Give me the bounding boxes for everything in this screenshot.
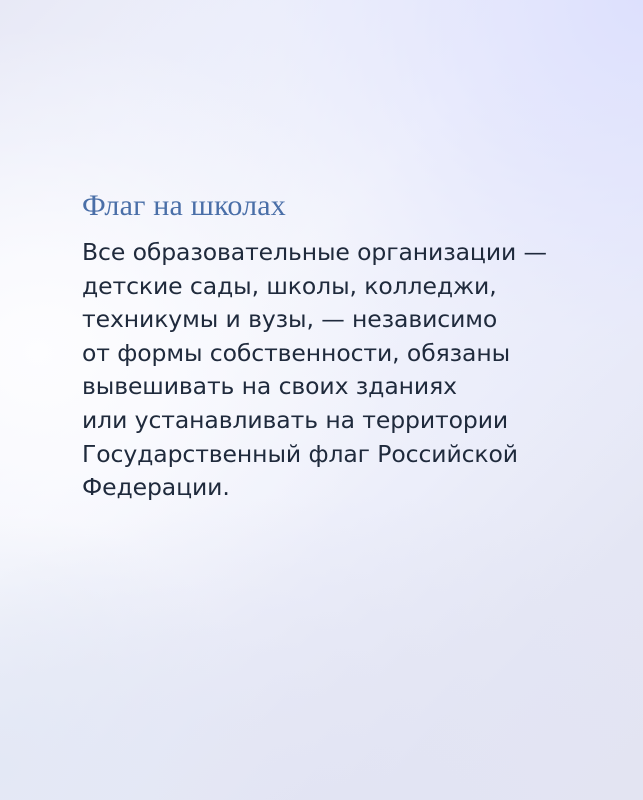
page-title: Флаг на школах <box>82 188 560 224</box>
body-line: вывешивать на своих зданиях <box>82 370 560 404</box>
info-card: Флаг на школах Все образовательные орган… <box>0 0 643 800</box>
text-block: Флаг на школах Все образовательные орган… <box>82 188 560 505</box>
body-line: детские сады, школы, колледжи, <box>82 270 560 304</box>
body-line: Все образовательные организации — <box>82 236 560 270</box>
body-paragraph: Все образовательные организации — детски… <box>82 236 560 505</box>
body-line: Государственный флаг Российской <box>82 438 560 472</box>
body-line: Федерации. <box>82 471 560 505</box>
body-line: или устанавливать на территории <box>82 404 560 438</box>
body-line: от формы собственности, обязаны <box>82 337 560 371</box>
body-line: техникумы и вузы, — независимо <box>82 303 560 337</box>
